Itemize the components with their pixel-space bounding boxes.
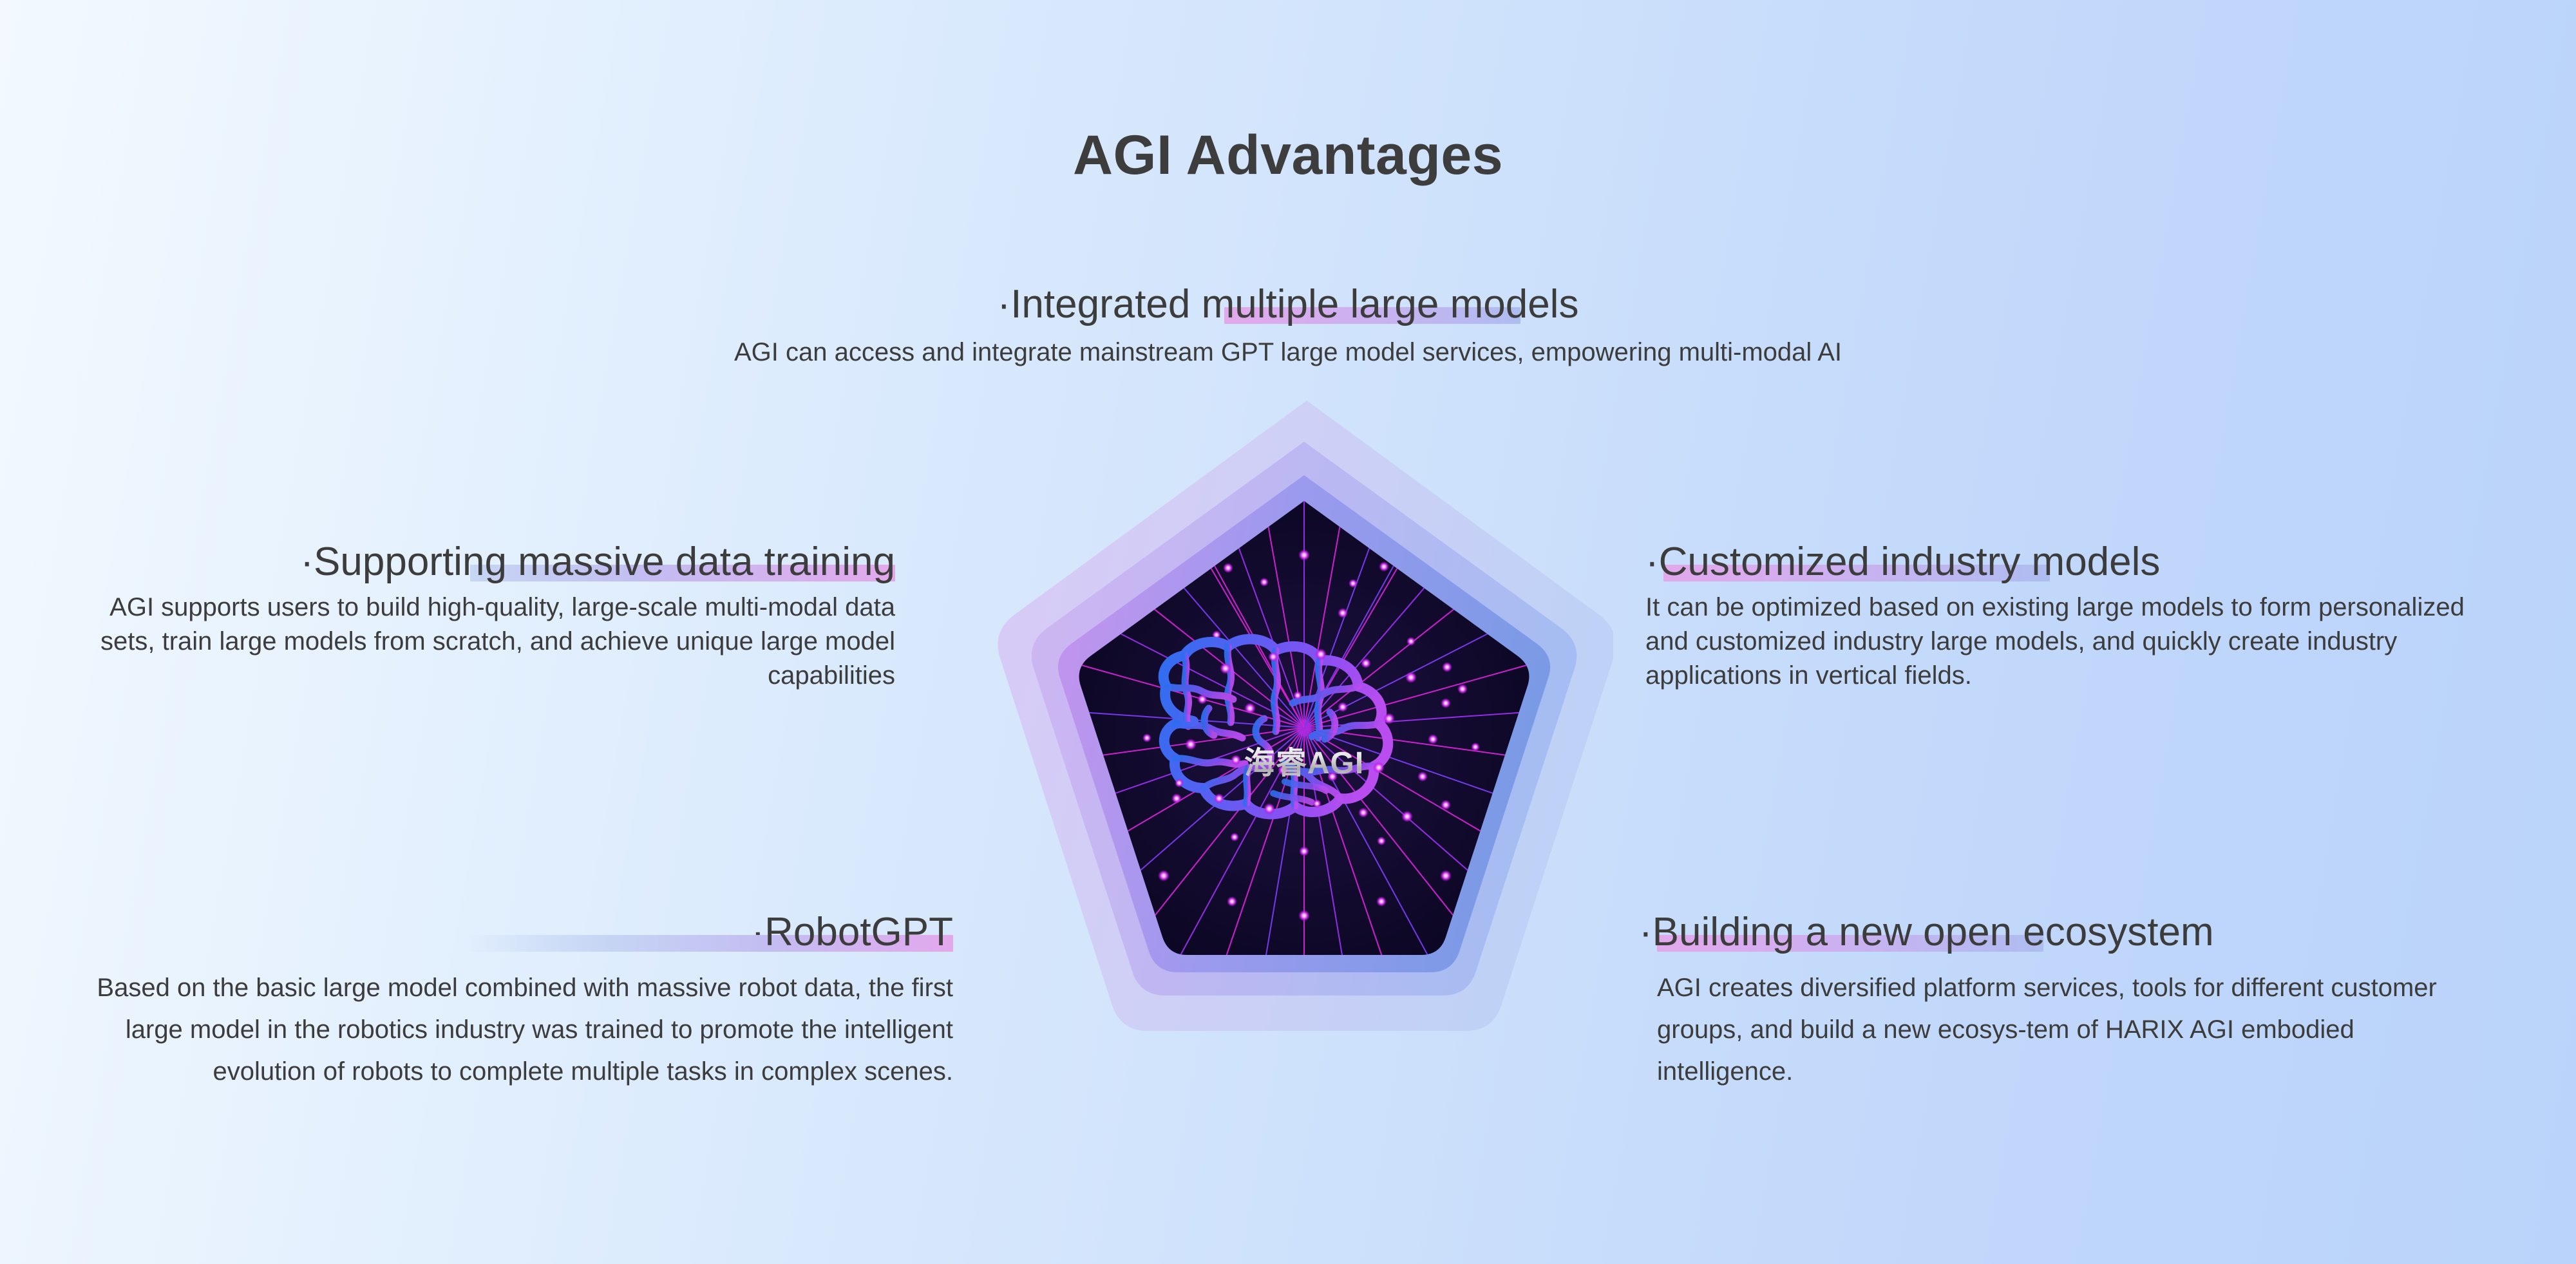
advantage-heading-massive-data-training: ·Supporting massive data training	[300, 541, 895, 583]
heading-text: Integrated multiple large models	[1010, 282, 1578, 326]
advantage-massive-data-training: ·Supporting massive data training AGI su…	[64, 541, 895, 692]
advantage-heading-customized-industry-models: ·Customized industry models	[1645, 541, 2160, 583]
pentagon-brain-illustration	[995, 386, 1613, 1075]
advantage-body-customized-industry-models: It can be optimized based on existing la…	[1645, 590, 2483, 692]
advantage-heading-robotgpt: ·RobotGPT	[751, 911, 953, 953]
advantage-open-ecosystem: ·Building a new open ecosystem AGI creat…	[1639, 911, 2495, 1092]
advantage-robotgpt: ·RobotGPT Based on the basic large model…	[64, 911, 953, 1092]
advantage-body-massive-data-training: AGI supports users to build high-quality…	[64, 590, 895, 692]
heading-text: Customized industry models	[1659, 540, 2161, 584]
advantage-integrated-models: ·Integrated multiple large models AGI ca…	[0, 283, 2576, 370]
heading-text: Supporting massive data training	[314, 540, 895, 584]
heading-text: Building a new open ecosystem	[1653, 910, 2214, 954]
bullet-icon: ·	[1645, 540, 1659, 584]
bullet-icon: ·	[998, 282, 1011, 326]
advantage-body-robotgpt: Based on the basic large model combined …	[64, 967, 953, 1092]
center-brand-label: 海睿AGI	[995, 737, 1613, 782]
advantage-heading-open-ecosystem: ·Building a new open ecosystem	[1639, 911, 2214, 953]
bullet-icon: ·	[300, 540, 314, 584]
advantage-customized-industry-models: ·Customized industry models It can be op…	[1645, 541, 2483, 692]
advantage-heading-integrated-models: ·Integrated multiple large models	[998, 283, 1579, 325]
bullet-icon: ·	[1639, 910, 1653, 954]
slide-canvas: AGI Advantages ·Integrated multiple larg…	[0, 0, 2576, 1264]
advantage-body-integrated-models: AGI can access and integrate mainstream …	[0, 335, 2576, 370]
advantage-body-open-ecosystem: AGI creates diversified platform service…	[1657, 967, 2449, 1092]
page-title: AGI Advantages	[0, 124, 2576, 187]
heading-text: RobotGPT	[764, 910, 953, 954]
central-graphic: 海睿AGI	[995, 386, 1613, 1075]
